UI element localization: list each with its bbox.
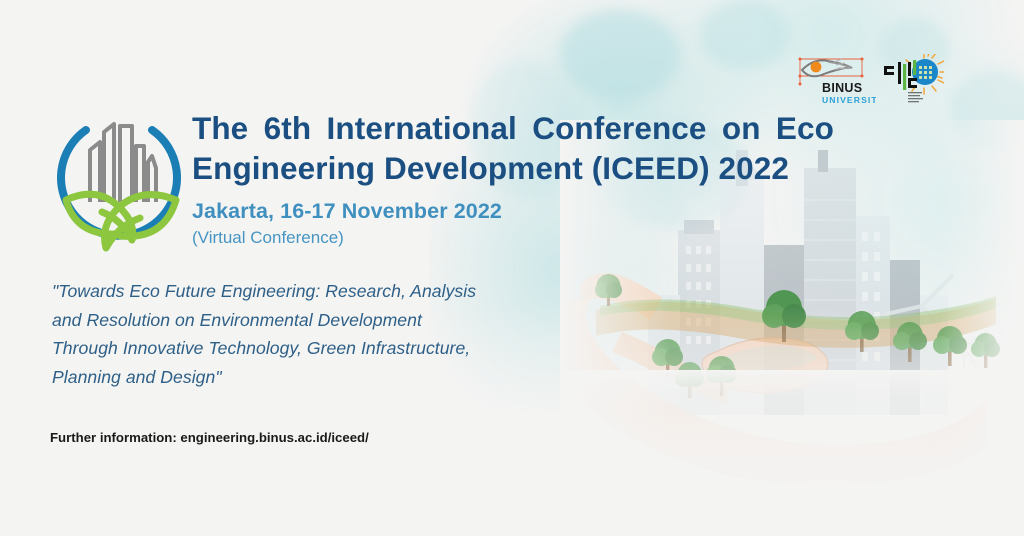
- theme-line: Through Innovative Technology, Green Inf…: [52, 334, 572, 363]
- theme-line: Planning and Design": [52, 363, 572, 392]
- event-mode: (Virtual Conference): [192, 228, 344, 248]
- title-line-2: Engineering Development (ICEED) 2022: [192, 148, 864, 188]
- logo-group: BINUS UNIVERSITY: [796, 54, 946, 110]
- page-title: The 6th International Conference on Eco …: [192, 108, 864, 189]
- wash-blotch: [560, 10, 680, 100]
- conference-banner: The 6th International Conference on Eco …: [0, 0, 1024, 536]
- event-date: Jakarta, 16-17 November 2022: [192, 199, 502, 224]
- conference-theme: "Towards Eco Future Engineering: Researc…: [52, 277, 572, 391]
- binus-wordmark: BINUS: [822, 81, 862, 95]
- binus-university-logo: BINUS UNIVERSITY: [796, 54, 876, 108]
- binus-university-wordmark: UNIVERSITY: [822, 95, 876, 105]
- theme-line: "Towards Eco Future Engineering: Researc…: [52, 277, 572, 306]
- further-information: Further information: engineering.binus.a…: [50, 430, 369, 445]
- further-information-label: Further information:: [50, 430, 177, 445]
- conference-website-link[interactable]: engineering.binus.ac.id/iceed/: [180, 430, 368, 445]
- wash-blotch: [700, 0, 790, 70]
- partner-logo: [882, 54, 944, 110]
- title-line-1: The 6th International Conference on Eco: [192, 108, 864, 148]
- theme-line: and Resolution on Environmental Developm…: [52, 306, 572, 335]
- iceed-emblem-icon: [48, 106, 190, 254]
